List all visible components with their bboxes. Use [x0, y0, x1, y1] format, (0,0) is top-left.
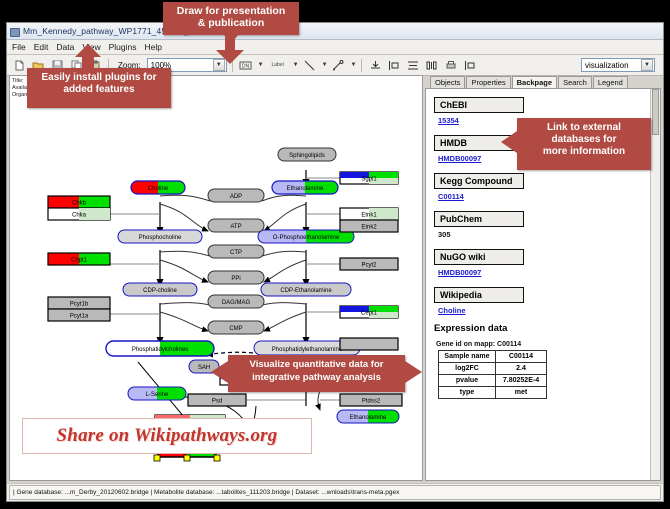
gene-label-psd: Psd — [212, 399, 222, 405]
new-file-icon[interactable] — [11, 57, 27, 73]
menu-item-file[interactable]: File — [12, 42, 26, 52]
gene-label-pcyt1a: Pcyt1a — [70, 314, 89, 320]
menu-item-help[interactable]: Help — [145, 42, 162, 52]
node-label-l-serine-left: L-Serine — [146, 392, 169, 398]
gene-label-ptdss2: Ptdss2 — [362, 399, 381, 405]
callout-link-line1: Link to external — [517, 122, 651, 134]
menu-bar: File Edit Data View Plugins Help — [7, 40, 663, 55]
callout-draw-arrowhead — [216, 50, 244, 64]
gene-label-chpt1: Chpt1 — [71, 258, 88, 264]
callout-link-databases: Link to external databases for more info… — [517, 118, 651, 170]
expr-key-sample-name: Sample name — [439, 351, 496, 363]
table-row: pvalue 7.80252E-4 — [439, 375, 547, 387]
distribute-icon[interactable] — [424, 57, 440, 73]
expr-value-sample-name: C00114 — [496, 351, 547, 363]
table-row: Sample name C00114 — [439, 351, 547, 363]
node-label-atp: ATP — [230, 224, 241, 230]
side-panel-scrollbar[interactable] — [650, 89, 660, 480]
db-link-kegg-compound[interactable]: C00114 — [438, 192, 660, 201]
side-panel-tabs: Objects Properties Backpage Search Legen… — [425, 75, 661, 88]
expr-key-pvalue: pvalue — [439, 375, 496, 387]
label-dropdown-icon[interactable]: ▼ — [293, 62, 299, 68]
screenshot-root: Mm_Kennedy_pathway_WP1771_45176.gpml Fil… — [0, 0, 670, 509]
expr-value-type: met — [496, 387, 547, 399]
gene-label-etnk1: Etnk1 — [361, 213, 377, 219]
callout-plugins-line1: Easily install plugins for — [27, 72, 171, 84]
gene-label-chkb: Chkb — [72, 201, 87, 207]
node-label-phosphatidylcholines: Phosphatidylcholines — [132, 347, 188, 353]
table-row: log2FC 2.4 — [439, 363, 547, 375]
db-link-nugo-wiki[interactable]: HMDB00097 — [438, 268, 660, 277]
node-label-o-phosphoethanolamine: O-Phosphoethanolamine — [273, 235, 340, 241]
db-header-pubchem: PubChem — [434, 211, 524, 227]
callout-plugins-line2: added features — [27, 84, 171, 96]
common-width-icon[interactable] — [462, 57, 478, 73]
share-wikipathways-box: Share on Wikipathways.org — [22, 418, 312, 454]
callout-visualize-line1: Visualize quantitative data for — [228, 358, 405, 371]
toolbar-separator-3 — [361, 59, 362, 72]
node-label-phosphatidylethanolamine: Phosphatidylethanolamine — [272, 347, 343, 353]
node-label-cdp-choline: CDP-choline — [143, 288, 177, 294]
expr-value-log2fc: 2.4 — [496, 363, 547, 375]
node-label-ctp: CTP — [230, 250, 242, 256]
callout-plugins-stem — [82, 56, 94, 70]
align-left-icon[interactable] — [386, 57, 402, 73]
callout-visualize: Visualize quantitative data for integrat… — [228, 355, 405, 392]
node-label-adp: ADP — [230, 194, 242, 200]
db-link-wikipedia[interactable]: Choline — [438, 306, 660, 315]
expression-data-heading: Expression data — [434, 323, 660, 334]
expr-value-pvalue: 7.80252E-4 — [496, 375, 547, 387]
app-icon — [10, 27, 19, 36]
db-header-chebi: ChEBI — [434, 97, 524, 113]
callout-link-line2: databases for — [517, 134, 651, 146]
node-label-cdp-ethanolamine: CDP-Ethanolamine — [280, 288, 332, 294]
interaction-dropdown-icon[interactable]: ▼ — [351, 62, 357, 68]
status-text: | Gene database: ...m_Derby_20120602.bri… — [9, 485, 661, 500]
stack-icon[interactable] — [405, 57, 421, 73]
print-icon[interactable] — [443, 57, 459, 73]
menu-item-plugins[interactable]: Plugins — [109, 42, 137, 52]
line-dropdown-icon[interactable]: ▼ — [322, 62, 328, 68]
gene-label-chka: Chka — [72, 213, 87, 219]
line-icon[interactable] — [302, 57, 318, 73]
node-label-ethanolamine-2: Ethanolamine — [350, 415, 387, 421]
db-header-nugo-wiki: NuGO wiki — [434, 249, 524, 265]
callout-link-arrowhead — [501, 131, 517, 153]
callout-draw-stem — [225, 32, 235, 50]
expr-key-log2fc: log2FC — [439, 363, 496, 375]
callout-plugins-arrowhead — [75, 44, 101, 57]
db-value-pubchem: 305 — [438, 230, 660, 239]
db-header-kegg-compound: Kegg Compound — [434, 173, 524, 189]
callout-link-line3: more information — [517, 146, 651, 158]
share-wikipathways-text: Share on Wikipathways.org — [57, 425, 278, 447]
node-label-dagmag: DAG/MAG — [222, 300, 251, 306]
callout-plugins: Easily install plugins for added feature… — [27, 68, 171, 108]
tab-properties[interactable]: Properties — [466, 76, 510, 88]
tab-objects[interactable]: Objects — [430, 76, 465, 88]
node-label-sah: SAH — [198, 365, 210, 371]
expr-key-type: type — [439, 387, 496, 399]
callout-draw-line2: & publication — [163, 17, 299, 29]
db-header-wikipedia: Wikipedia — [434, 287, 524, 303]
interaction-icon[interactable] — [331, 57, 347, 73]
node-label-cmp: CMP — [229, 326, 242, 332]
menu-item-edit[interactable]: Edit — [34, 42, 49, 52]
node-label-sphingolipids: Sphingolipids — [289, 153, 325, 159]
table-row: type met — [439, 387, 547, 399]
scrollbar-thumb[interactable] — [652, 89, 659, 135]
callout-visualize-arrowhead-right — [405, 361, 422, 383]
tab-search[interactable]: Search — [558, 76, 592, 88]
gene-id-label: Gene id on mapp: C00114 — [436, 341, 660, 348]
gene-label-sgpl1: Sgpl1 — [361, 177, 377, 183]
node-label-ethanolamine-1: Ethanolamine — [287, 186, 324, 192]
menu-item-data[interactable]: Data — [56, 42, 74, 52]
title-bar: Mm_Kennedy_pathway_WP1771_45176.gpml — [7, 23, 663, 40]
node-label-choline-top: Choline — [148, 186, 169, 192]
align-center-icon[interactable] — [367, 57, 383, 73]
gene-label-pcyt1b: Pcyt1b — [70, 302, 89, 308]
node-label-phosphocholine: Phosphocholine — [139, 235, 182, 241]
tab-legend[interactable]: Legend — [593, 76, 628, 88]
callout-draw: Draw for presentation & publication — [163, 2, 299, 35]
callout-draw-line1: Draw for presentation — [163, 5, 299, 17]
visualization-value: visualization — [585, 61, 629, 70]
datanode-dropdown-icon[interactable]: ▼ — [258, 62, 264, 68]
gene-label-pcyt2: Pcyt2 — [361, 263, 377, 269]
label-icon[interactable]: Label — [267, 57, 289, 73]
gene-label-etnk2: Etnk2 — [361, 225, 377, 231]
status-bar: | Gene database: ...m_Derby_20120602.bri… — [7, 483, 663, 501]
visualization-combobox[interactable]: visualization ▼ — [581, 58, 655, 72]
gene-label-cept1: Cept1 — [361, 311, 378, 317]
callout-visualize-arrowhead-left — [211, 361, 228, 383]
node-label-ppi: PPi — [231, 276, 240, 282]
chevron-down-icon-2[interactable]: ▼ — [641, 59, 653, 71]
expression-table: Sample name C00114 log2FC 2.4 pvalue 7.8… — [438, 350, 547, 399]
callout-visualize-line2: integrative pathway analysis — [228, 371, 405, 384]
